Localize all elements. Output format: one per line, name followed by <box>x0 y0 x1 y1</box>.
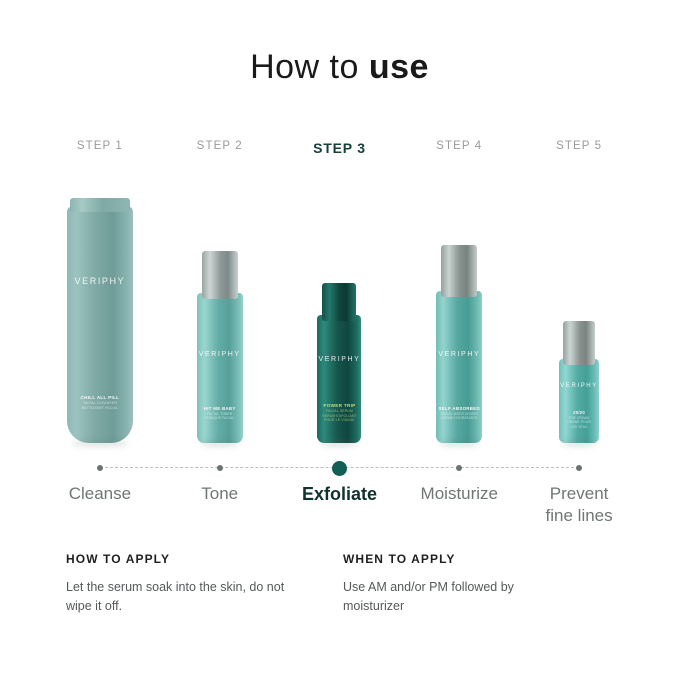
when-to-apply-title: WHEN TO APPLY <box>343 552 565 566</box>
product-cell-3: VERIPHY POWER TRIP FACIAL SERUM SERUM EX… <box>280 175 400 443</box>
product-cell-4: VERIPHY SELF ABSORBED FACIAL MOISTURIZER… <box>399 175 519 443</box>
how-to-apply-title: HOW TO APPLY <box>66 552 288 566</box>
product-cell-1: VERIPHY CHILL ALL PILL FACIAL CLEANSER N… <box>40 175 160 443</box>
step-label-1: STEP 1 <box>77 140 123 152</box>
benefit-label-prevent-fine-lines: Prevent fine lines <box>519 483 639 527</box>
bottle-body <box>317 315 361 443</box>
step-label-2: STEP 2 <box>197 140 243 152</box>
page-title-bold: use <box>369 48 429 86</box>
page-title-light: How to <box>250 48 369 86</box>
bottle-cap <box>441 245 477 297</box>
timeline-dot-5[interactable] <box>576 465 582 471</box>
bottle-cap <box>563 321 595 365</box>
step-label-4: STEP 4 <box>436 140 482 152</box>
timeline-cell-2 <box>160 458 280 478</box>
bottle-body <box>559 359 599 443</box>
benefit-row: Cleanse Tone Exfoliate Moisturize Preven… <box>40 483 639 527</box>
timeline-dot-2[interactable] <box>217 465 223 471</box>
timeline-cell-3 <box>280 458 400 478</box>
benefit-label-exfoliate: Exfoliate <box>280 483 400 527</box>
timeline-dot-3-active[interactable] <box>332 461 347 476</box>
timeline-dot-4[interactable] <box>456 465 462 471</box>
bottle-cap <box>322 283 356 321</box>
product-image-moisturizer: VERIPHY SELF ABSORBED FACIAL MOISTURIZER… <box>436 245 482 443</box>
product-row: VERIPHY CHILL ALL PILL FACIAL CLEANSER N… <box>40 175 639 443</box>
product-cell-2: VERIPHY HIT ME BABY FACIAL TONER TONIQUE… <box>160 175 280 443</box>
step-column-2: STEP 2 <box>160 140 280 156</box>
product-cell-5: VERIPHY 20/20 EYE CREAM CREME POUR LES Y… <box>519 175 639 443</box>
tube-body <box>67 206 133 443</box>
step-label-5: STEP 5 <box>556 140 602 152</box>
benefit-label-tone: Tone <box>160 483 280 527</box>
benefit-label-moisturize: Moisturize <box>399 483 519 527</box>
when-to-apply-block: WHEN TO APPLY Use AM and/or PM followed … <box>343 552 565 617</box>
step-column-3: STEP 3 <box>280 140 400 156</box>
product-image-eye-cream: VERIPHY 20/20 EYE CREAM CREME POUR LES Y… <box>559 321 599 443</box>
timeline-cell-1 <box>40 458 160 478</box>
timeline-dot-1[interactable] <box>97 465 103 471</box>
step-column-1: STEP 1 <box>40 140 160 156</box>
product-image-cleanser: VERIPHY CHILL ALL PILL FACIAL CLEANSER N… <box>67 198 133 443</box>
benefit-label-cleanse: Cleanse <box>40 483 160 527</box>
step-label-row: STEP 1 STEP 2 STEP 3 STEP 4 STEP 5 <box>40 140 639 156</box>
progress-timeline <box>40 458 639 478</box>
when-to-apply-body: Use AM and/or PM followed by moisturizer <box>343 578 565 617</box>
timeline-dot-row <box>40 458 639 478</box>
how-to-apply-block: HOW TO APPLY Let the serum soak into the… <box>66 552 288 617</box>
how-to-apply-body: Let the serum soak into the skin, do not… <box>66 578 288 617</box>
page-title: How to use <box>0 48 679 87</box>
step-column-5: STEP 5 <box>519 140 639 156</box>
product-image-serum: VERIPHY POWER TRIP FACIAL SERUM SERUM EX… <box>317 283 361 443</box>
tube-cap <box>70 198 130 212</box>
step-column-4: STEP 4 <box>399 140 519 156</box>
timeline-cell-4 <box>399 458 519 478</box>
step-label-3: STEP 3 <box>313 140 366 156</box>
instruction-row: HOW TO APPLY Let the serum soak into the… <box>66 552 626 617</box>
bottle-cap <box>202 251 238 299</box>
bottle-body <box>436 291 482 443</box>
bottle-body <box>197 293 243 443</box>
timeline-cell-5 <box>519 458 639 478</box>
product-image-toner: VERIPHY HIT ME BABY FACIAL TONER TONIQUE… <box>197 251 243 443</box>
